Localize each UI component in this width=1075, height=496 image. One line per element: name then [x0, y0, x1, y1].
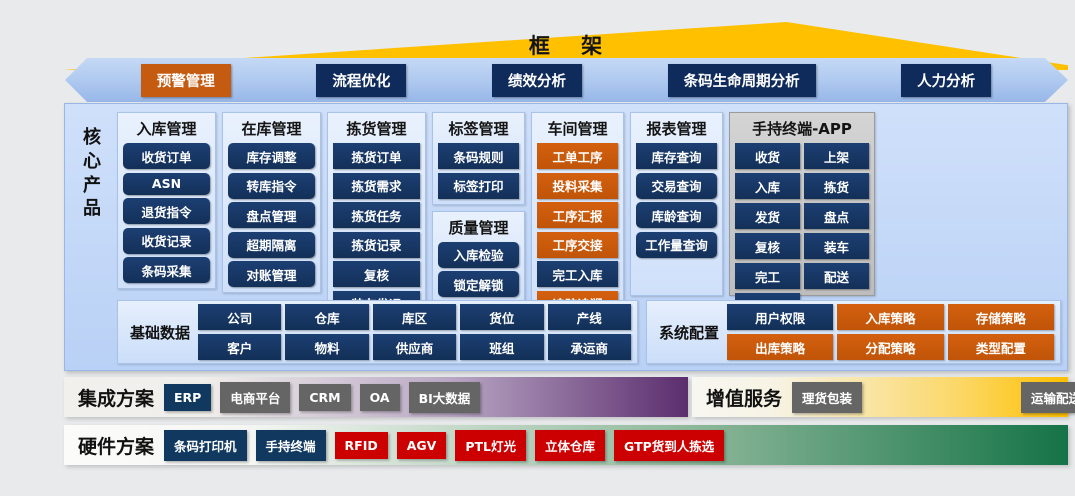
btn-work-order-process[interactable]: 工单工序 — [537, 143, 618, 169]
chip-rfid[interactable]: RFID — [335, 432, 388, 459]
core-bottom-strips: 基础数据 公司 仓库 库区 货位 产线 客户 物料 供应商 班组 承运商 系统配… — [117, 300, 1061, 364]
core-label-char-2: 心 — [75, 150, 109, 174]
integration-solutions-label: 集成方案 — [64, 384, 164, 411]
core-label-char-1: 核 — [75, 126, 109, 150]
column-title-workshop: 车间管理 — [537, 116, 618, 143]
core-products-panel: 核 心 产 品 入库管理 收货订单 ASN 退货指令 收货记录 条码采集 在库管… — [64, 103, 1068, 371]
hardware-solutions-label: 硬件方案 — [64, 432, 164, 459]
basic-data-grid: 公司 仓库 库区 货位 产线 客户 物料 供应商 班组 承运商 — [198, 304, 631, 360]
btn-reconciliation-management[interactable]: 对账管理 — [228, 261, 315, 287]
core-label-char-4: 品 — [75, 197, 109, 221]
system-config-grid: 用户权限 入库策略 存储策略 出库策略 分配策略 类型配置 — [727, 304, 1054, 360]
column-title-inbound: 入库管理 — [123, 116, 210, 143]
btn-label-printing[interactable]: 标签打印 — [438, 173, 519, 199]
btn-app-delivery[interactable]: 配送 — [804, 263, 869, 289]
btn-customer[interactable]: 客户 — [198, 334, 281, 360]
btn-inventory-adjustment[interactable]: 库存调整 — [228, 143, 315, 169]
btn-app-picking[interactable]: 拣货 — [804, 173, 869, 199]
module-columns: 入库管理 收货订单 ASN 退货指令 收货记录 条码采集 在库管理 库存调整 转… — [117, 112, 1061, 296]
btn-warehouse[interactable]: 仓库 — [285, 304, 368, 330]
btn-allocation-strategy[interactable]: 分配策略 — [837, 334, 943, 360]
btn-transaction-query[interactable]: 交易查询 — [636, 173, 717, 199]
column-buttons-picking: 拣货订单 拣货需求 拣货任务 拣货记录 复核 装车发运 — [333, 143, 420, 317]
btn-storage-strategy[interactable]: 存储策略 — [948, 304, 1054, 330]
btn-stocktaking-management[interactable]: 盘点管理 — [228, 202, 315, 228]
column-title-handheld-app: 手持终端-APP — [735, 116, 869, 143]
chip-handheld-terminal[interactable]: 手持终端 — [256, 430, 326, 461]
btn-barcode-rule[interactable]: 条码规则 — [438, 143, 519, 169]
btn-barcode-collection[interactable]: 条码采集 — [123, 257, 210, 283]
btn-expiry-quarantine[interactable]: 超期隔离 — [228, 232, 315, 258]
chip-barcode-printer[interactable]: 条码打印机 — [164, 430, 247, 461]
basic-data-label: 基础数据 — [124, 322, 198, 343]
btn-asn[interactable]: ASN — [123, 173, 210, 195]
value-added-services-label: 增值服务 — [692, 384, 792, 411]
hardware-solutions-row: 硬件方案 条码打印机 手持终端 RFID AGV PTL灯光 立体仓库 GTP货… — [64, 425, 1068, 465]
btn-receiving-order[interactable]: 收货订单 — [123, 143, 210, 169]
value-added-services-row: 增值服务 理货包装 运输配送 — [692, 377, 1068, 417]
btn-app-receiving[interactable]: 收货 — [735, 143, 800, 169]
btn-carrier[interactable]: 承运商 — [548, 334, 631, 360]
page-title: 框 架 — [63, 30, 1068, 60]
btn-company[interactable]: 公司 — [198, 304, 281, 330]
btn-supplier[interactable]: 供应商 — [373, 334, 456, 360]
chip-transport-delivery[interactable]: 运输配送 — [1021, 382, 1075, 413]
module-column-handheld-app: 手持终端-APP 收货 上架 入库 拣货 发货 盘点 复核 装车 完工 配送 查… — [729, 112, 875, 296]
banner-chip-barcode-lifecycle-analysis[interactable]: 条码生命周期分析 — [668, 64, 816, 97]
module-column-report: 报表管理 库存查询 交易查询 库龄查询 工作量查询 — [630, 112, 723, 296]
btn-app-loading[interactable]: 装车 — [804, 233, 869, 259]
btn-app-putaway[interactable]: 上架 — [804, 143, 869, 169]
btn-app-stocktaking[interactable]: 盘点 — [804, 203, 869, 229]
module-column-instock: 在库管理 库存调整 转库指令 盘点管理 超期隔离 对账管理 — [222, 112, 321, 293]
analysis-banner-chips: 预警管理 流程优化 绩效分析 条码生命周期分析 人力分析 — [64, 58, 1068, 102]
btn-app-inbound[interactable]: 入库 — [735, 173, 800, 199]
btn-recheck[interactable]: 复核 — [333, 261, 420, 287]
btn-production-line[interactable]: 产线 — [548, 304, 631, 330]
banner-chip-manpower-analysis[interactable]: 人力分析 — [901, 64, 991, 97]
column-buttons-instock: 库存调整 转库指令 盘点管理 超期隔离 对账管理 — [228, 143, 315, 287]
chip-ptl-lighting[interactable]: PTL灯光 — [455, 430, 526, 461]
btn-team[interactable]: 班组 — [460, 334, 543, 360]
chip-bi-big-data[interactable]: BI大数据 — [409, 382, 481, 413]
column-buttons-handheld-app: 收货 上架 入库 拣货 发货 盘点 复核 装车 完工 配送 查询 — [735, 143, 869, 319]
btn-process-handover[interactable]: 工序交接 — [537, 232, 618, 258]
chip-agv[interactable]: AGV — [397, 432, 447, 459]
module-column-picking: 拣货管理 拣货订单 拣货需求 拣货任务 拣货记录 复核 装车发运 — [327, 112, 426, 323]
system-config-label: 系统配置 — [653, 322, 727, 343]
column-buttons-quality: 入库检验 锁定解锁 — [438, 242, 519, 298]
btn-app-shipping[interactable]: 发货 — [735, 203, 800, 229]
chip-ecommerce-platform[interactable]: 电商平台 — [220, 382, 290, 413]
banner-chip-process-optimization[interactable]: 流程优化 — [316, 64, 406, 97]
chip-asrs[interactable]: 立体仓库 — [535, 430, 605, 461]
btn-finished-goods-inbound[interactable]: 完工入库 — [537, 261, 618, 287]
btn-workload-query[interactable]: 工作量查询 — [636, 232, 717, 258]
module-column-inbound: 入库管理 收货订单 ASN 退货指令 收货记录 条码采集 — [117, 112, 216, 289]
column-title-picking: 拣货管理 — [333, 116, 420, 143]
btn-picking-task[interactable]: 拣货任务 — [333, 202, 420, 228]
chip-tally-packaging[interactable]: 理货包装 — [792, 382, 862, 413]
column-buttons-workshop: 工单工序 投料采集 工序汇报 工序交接 完工入库 追踪追溯 — [537, 143, 618, 317]
module-box-quality: 质量管理 入库检验 锁定解锁 — [432, 211, 525, 304]
btn-app-recheck[interactable]: 复核 — [735, 233, 800, 259]
btn-type-configuration[interactable]: 类型配置 — [948, 334, 1054, 360]
chip-erp[interactable]: ERP — [164, 384, 211, 411]
btn-transfer-instruction[interactable]: 转库指令 — [228, 173, 315, 199]
system-config-strip: 系统配置 用户权限 入库策略 存储策略 出库策略 分配策略 类型配置 — [646, 300, 1061, 364]
btn-receiving-record[interactable]: 收货记录 — [123, 228, 210, 254]
btn-picking-record[interactable]: 拣货记录 — [333, 232, 420, 258]
btn-picking-demand[interactable]: 拣货需求 — [333, 173, 420, 199]
integration-solutions-row: 集成方案 ERP 电商平台 CRM OA BI大数据 — [64, 377, 688, 417]
column-title-label: 标签管理 — [438, 116, 519, 143]
btn-outbound-strategy[interactable]: 出库策略 — [727, 334, 833, 360]
btn-picking-order[interactable]: 拣货订单 — [333, 143, 420, 169]
btn-app-completion[interactable]: 完工 — [735, 263, 800, 289]
chip-crm[interactable]: CRM — [299, 384, 350, 411]
column-buttons-label: 条码规则 标签打印 — [438, 143, 519, 199]
btn-storage-area[interactable]: 库区 — [373, 304, 456, 330]
banner-chip-alert-management[interactable]: 预警管理 — [141, 64, 231, 97]
chip-gtp-goods-to-person[interactable]: GTP货到人拣选 — [614, 430, 724, 461]
btn-inbound-inspection[interactable]: 入库检验 — [438, 242, 519, 268]
column-title-report: 报表管理 — [636, 116, 717, 143]
btn-lock-unlock[interactable]: 锁定解锁 — [438, 271, 519, 297]
btn-material[interactable]: 物料 — [285, 334, 368, 360]
basic-data-strip: 基础数据 公司 仓库 库区 货位 产线 客户 物料 供应商 班组 承运商 — [117, 300, 638, 364]
column-buttons-report: 库存查询 交易查询 库龄查询 工作量查询 — [636, 143, 717, 258]
column-title-instock: 在库管理 — [228, 116, 315, 143]
module-box-label: 标签管理 条码规则 标签打印 — [432, 112, 525, 205]
core-label-char-3: 产 — [75, 174, 109, 198]
chip-oa[interactable]: OA — [360, 384, 400, 411]
btn-user-permission[interactable]: 用户权限 — [727, 304, 833, 330]
column-title-quality: 质量管理 — [438, 215, 519, 242]
btn-stock-age-query[interactable]: 库龄查询 — [636, 202, 717, 228]
btn-inbound-strategy[interactable]: 入库策略 — [837, 304, 943, 330]
module-column-workshop: 车间管理 工单工序 投料采集 工序汇报 工序交接 完工入库 追踪追溯 — [531, 112, 624, 323]
btn-material-feeding-collection[interactable]: 投料采集 — [537, 173, 618, 199]
btn-return-instruction[interactable]: 退货指令 — [123, 198, 210, 224]
btn-process-report[interactable]: 工序汇报 — [537, 202, 618, 228]
banner-chip-performance-analysis[interactable]: 绩效分析 — [492, 64, 582, 97]
module-column-label-quality: 标签管理 条码规则 标签打印 质量管理 入库检验 锁定解锁 — [432, 112, 525, 303]
btn-inventory-query[interactable]: 库存查询 — [636, 143, 717, 169]
core-products-side-label: 核 心 产 品 — [75, 126, 109, 221]
btn-location[interactable]: 货位 — [460, 304, 543, 330]
column-buttons-inbound: 收货订单 ASN 退货指令 收货记录 条码采集 — [123, 143, 210, 283]
